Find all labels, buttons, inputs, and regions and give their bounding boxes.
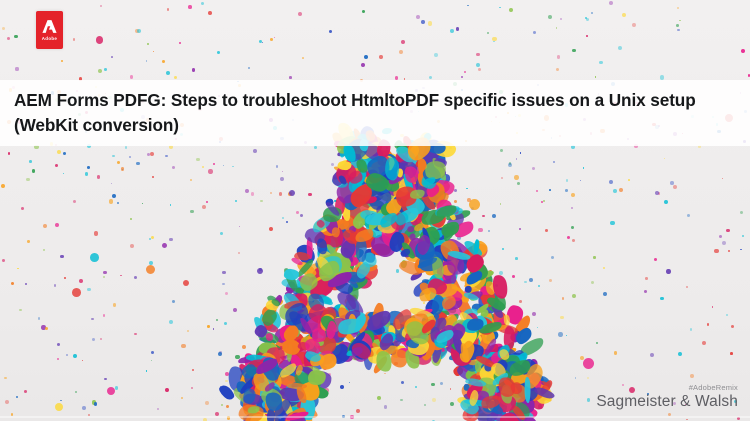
video-player-frame[interactable]: Adobe AEM Forms PDFG: Steps to troublesh…: [0, 0, 750, 421]
title-banner: AEM Forms PDFG: Steps to troubleshoot Ht…: [0, 80, 750, 146]
adobe-logo: Adobe: [36, 11, 63, 49]
adobe-a-mark-icon: [41, 18, 58, 35]
video-scrubber[interactable]: [0, 416, 750, 418]
page-title: AEM Forms PDFG: Steps to troubleshoot Ht…: [0, 88, 750, 139]
letter-a-sculpture: [0, 0, 750, 421]
title-line-1: AEM Forms PDFG: Steps to troubleshoot Ht…: [14, 90, 604, 110]
adobe-wordmark: Adobe: [42, 37, 57, 41]
